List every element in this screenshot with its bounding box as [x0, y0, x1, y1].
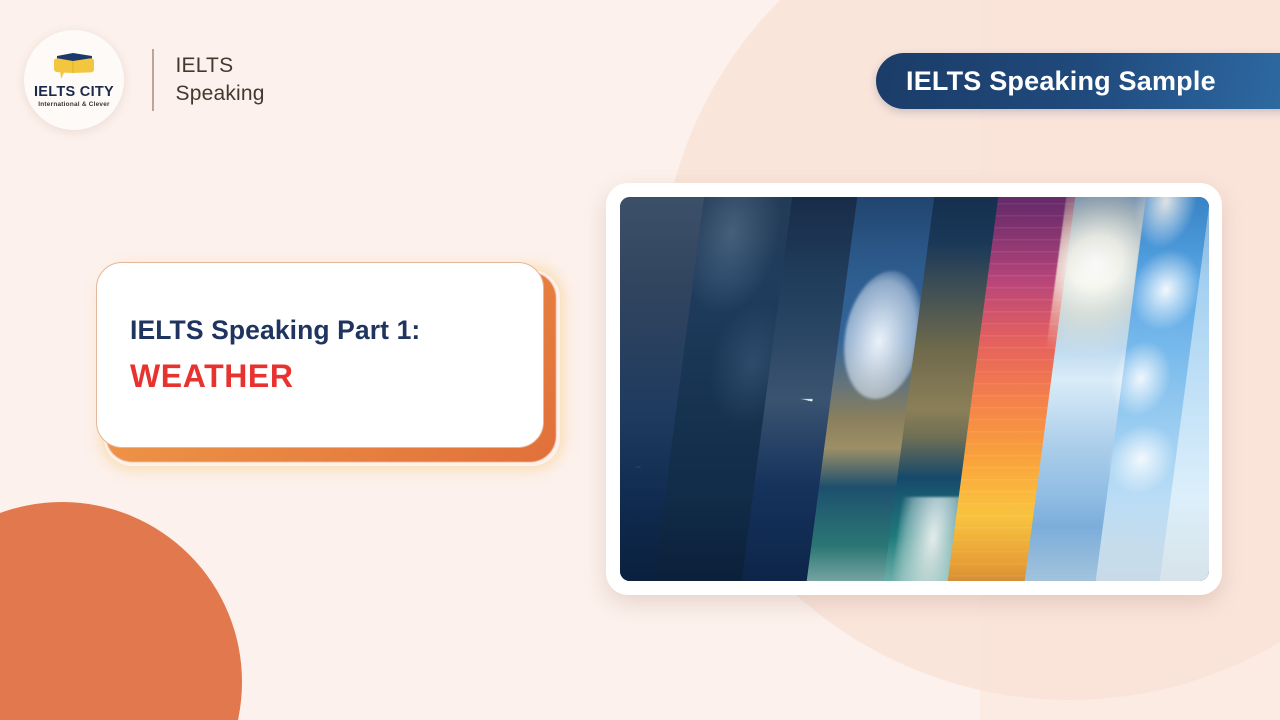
sample-badge-label: IELTS Speaking Sample: [906, 66, 1216, 97]
background-circle-orange: [0, 502, 242, 720]
sample-badge: IELTS Speaking Sample: [876, 53, 1280, 109]
brand-label-line2: Speaking: [176, 80, 265, 108]
brand-header: IELTS CITY International & Clever IELTS …: [24, 28, 265, 132]
brand-label: IELTS Speaking: [176, 52, 265, 108]
title-card-container: IELTS Speaking Part 1: WEATHER: [96, 262, 556, 460]
brand-label-line1: IELTS: [176, 52, 265, 80]
title-card: IELTS Speaking Part 1: WEATHER: [96, 262, 544, 448]
logo-tagline: International & Clever: [38, 102, 110, 108]
ielts-city-logo[interactable]: IELTS CITY International & Clever: [24, 30, 124, 130]
page-subtitle-topic: WEATHER: [130, 356, 543, 396]
weather-collage-frame: [606, 183, 1222, 595]
slide-canvas: IELTS CITY International & Clever IELTS …: [0, 0, 1280, 720]
page-title: IELTS Speaking Part 1:: [130, 314, 543, 347]
logo-name: IELTS CITY: [34, 85, 114, 100]
weather-collage-image: [620, 197, 1209, 581]
book-speech-bubble-icon: [48, 52, 100, 82]
brand-divider: [152, 49, 154, 111]
